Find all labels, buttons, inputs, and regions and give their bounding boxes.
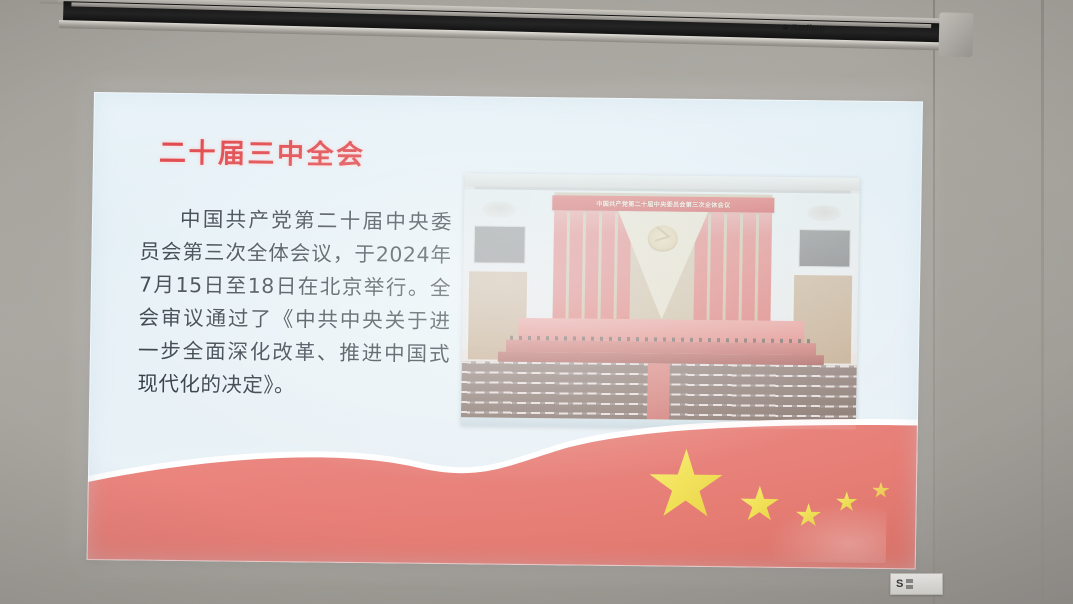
plenary-session-hall-photo: 中国共产党第二十届中央委员会第三次全体会议 (461, 173, 860, 429)
hammer-and-sickle-icon (648, 225, 678, 251)
wall-label-sticker: S (890, 573, 943, 595)
logo-dot-icon (783, 24, 788, 29)
wall-seam (933, 0, 935, 604)
sticker-bars-icon (906, 579, 913, 589)
projection-screen-housing: Radiant (57, 0, 958, 63)
classroom-scene: Radiant 二十届三中全会 中国共产党第二十届中央委员会第三次全体会议，于2… (0, 0, 1073, 604)
sticker-glyph: S (896, 579, 903, 590)
projected-slide: 二十届三中全会 中国共产党第二十届中央委员会第三次全体会议，于2024年7月15… (87, 92, 923, 569)
brand-label: Radiant (791, 22, 826, 33)
drape (741, 212, 756, 322)
drape (584, 211, 599, 321)
drape (568, 210, 583, 320)
drape (709, 212, 724, 322)
drape (725, 212, 740, 322)
hill-highlight (766, 502, 887, 563)
wall-medallion-icon (482, 201, 516, 217)
wall-dark-panel (473, 225, 526, 264)
slide-body-text: 中国共产党第二十届中央委员会第三次全体会议，于2024年7月15日至18日在北京… (137, 203, 452, 405)
wall-medallion-icon (807, 205, 841, 221)
slide-bottom-decoration (87, 410, 918, 569)
brand-logo: Radiant (783, 20, 861, 35)
drape (600, 211, 615, 321)
drape (552, 210, 567, 320)
wall-seam (1041, 0, 1044, 604)
wall-dark-panel (798, 229, 851, 268)
housing-end-cap-right (938, 12, 973, 57)
stage-drapes (552, 210, 772, 322)
drape (757, 213, 772, 323)
center-aisle-carpet (647, 363, 670, 421)
slide-title: 二十届三中全会 (159, 131, 366, 172)
stage-banner-text: 中国共产党第二十届中央委员会第三次全体会议 (596, 199, 730, 210)
